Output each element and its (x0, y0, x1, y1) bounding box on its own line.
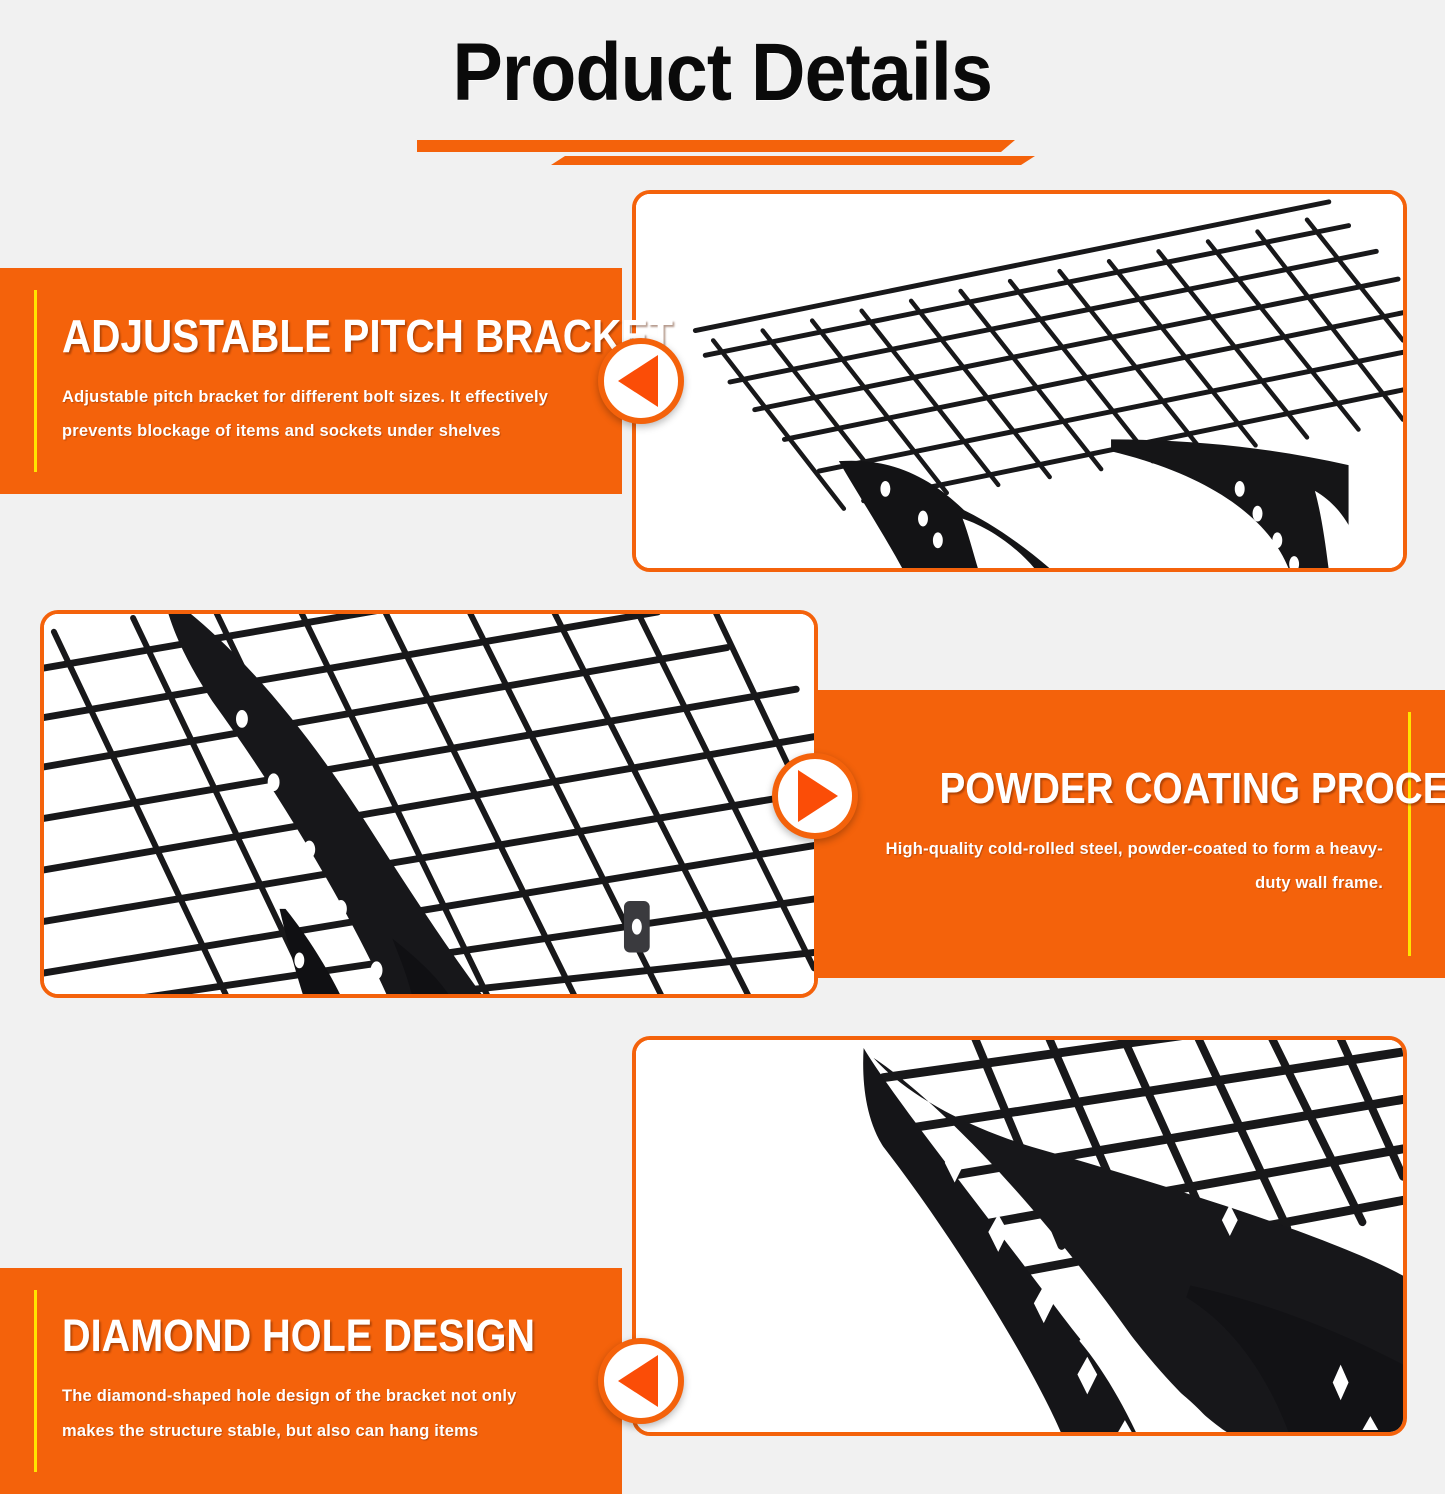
diamond-hole-bracket-photo (636, 1040, 1403, 1432)
feature-heading: DIAMOND HOLE DESIGN (62, 1313, 500, 1359)
triangle-glyph (618, 1355, 658, 1407)
feature-text-panel: DIAMOND HOLE DESIGN The diamond-shaped h… (0, 1268, 622, 1494)
feature-description: Adjustable pitch bracket for different b… (62, 380, 560, 449)
feature-block-diamond-hole-design: DIAMOND HOLE DESIGN The diamond-shaped h… (0, 1028, 1445, 1445)
feature-text-panel: POWDER COATING PROCESS High-quality cold… (817, 690, 1445, 978)
feature-block-powder-coating-process: POWDER COATING PROCESS High-quality cold… (0, 598, 1445, 1010)
feature-image-frame (40, 610, 818, 998)
triangle-glyph (798, 770, 838, 822)
accent-bar (34, 290, 37, 472)
triangle-right-icon[interactable] (772, 753, 858, 839)
feature-description: The diamond-shaped hole design of the br… (62, 1379, 560, 1448)
feature-image-frame (632, 190, 1407, 572)
feature-text-panel: ADJUSTABLE PITCH BRACKET Adjustable pitc… (0, 268, 622, 494)
feature-block-adjustable-pitch-bracket: ADJUSTABLE PITCH BRACKET Adjustable pitc… (0, 180, 1445, 580)
page-title: Product Details (453, 32, 993, 114)
feature-image-frame (632, 1036, 1407, 1436)
triangle-left-icon[interactable] (598, 1338, 684, 1424)
title-accent-underline (415, 136, 1035, 166)
accent-bar (1408, 712, 1411, 956)
wall-shelf-bracket-photo (636, 194, 1403, 568)
feature-heading: POWDER COATING PROCESS (939, 767, 1383, 812)
wire-mesh-powder-coated-photo (44, 614, 814, 994)
triangle-glyph (618, 355, 658, 407)
triangle-left-icon[interactable] (598, 338, 684, 424)
feature-heading: ADJUSTABLE PITCH BRACKET (62, 313, 500, 360)
feature-description: High-quality cold-rolled steel, powder-c… (879, 832, 1383, 901)
